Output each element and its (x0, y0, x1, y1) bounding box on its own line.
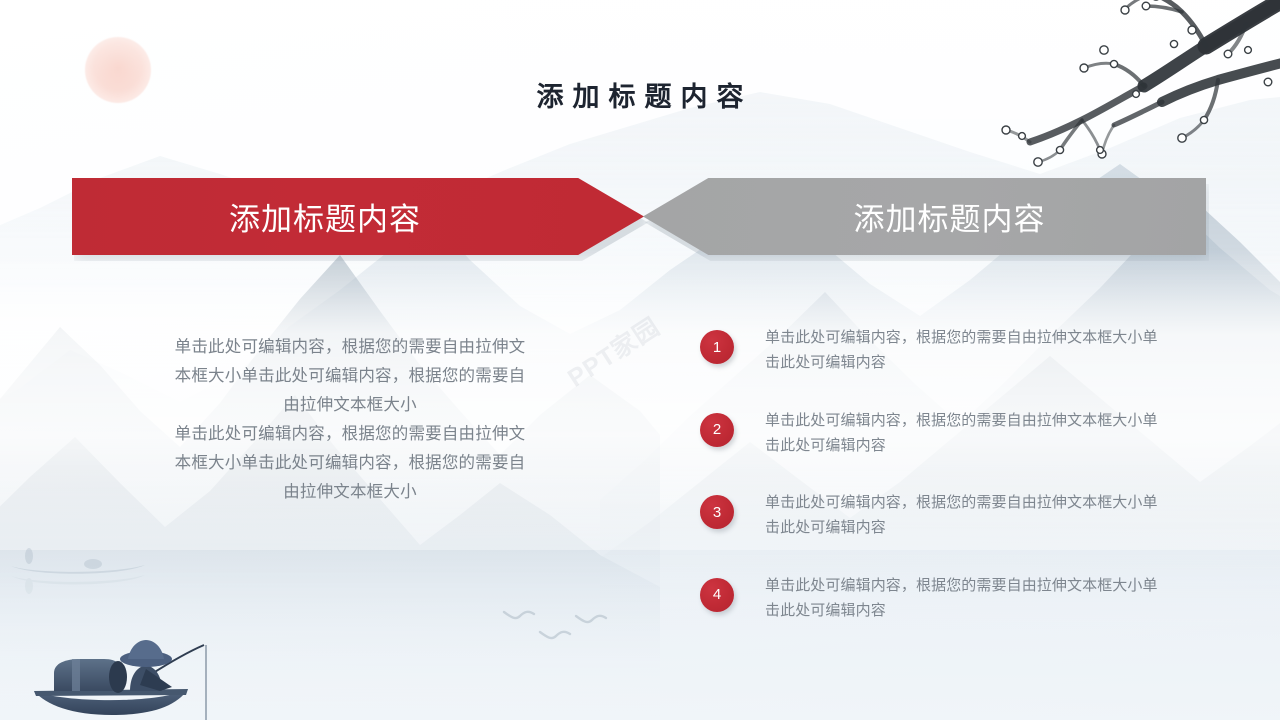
list-item-text: 单击此处可编辑内容，根据您的需要自由拉伸文本框大小单击此处可编辑内容 (765, 490, 1165, 540)
left-paragraph-1: 单击此处可编辑内容，根据您的需要自由拉伸文本框大小单击此处可编辑内容，根据您的需… (170, 333, 530, 420)
number-badge: 4 (700, 578, 734, 612)
slide-canvas: PPT家园 添加标题内容 添加标题内容 添加标题内容 单击此处可编辑内容，根据您… (0, 0, 1280, 720)
list-item[interactable]: 2 单击此处可编辑内容，根据您的需要自由拉伸文本框大小单击此处可编辑内容 (695, 408, 1215, 491)
banner-row: 添加标题内容 添加标题内容 (0, 178, 1280, 268)
watermark: PPT家园 (563, 304, 707, 436)
numbered-list: 1 单击此处可编辑内容，根据您的需要自由拉伸文本框大小单击此处可编辑内容 2 单… (695, 325, 1215, 655)
right-banner-label: 添加标题内容 (854, 194, 1046, 239)
list-item[interactable]: 3 单击此处可编辑内容，根据您的需要自由拉伸文本框大小单击此处可编辑内容 (695, 490, 1215, 573)
left-banner[interactable]: 添加标题内容 (72, 178, 644, 255)
left-paragraph-2: 单击此处可编辑内容，根据您的需要自由拉伸文本框大小单击此处可编辑内容，根据您的需… (170, 420, 530, 507)
page-title: 添加标题内容 (0, 75, 1280, 114)
list-item[interactable]: 4 单击此处可编辑内容，根据您的需要自由拉伸文本框大小单击此处可编辑内容 (695, 573, 1215, 656)
left-body-text: 单击此处可编辑内容，根据您的需要自由拉伸文本框大小单击此处可编辑内容，根据您的需… (170, 333, 530, 507)
list-item[interactable]: 1 单击此处可编辑内容，根据您的需要自由拉伸文本框大小单击此处可编辑内容 (695, 325, 1215, 408)
fishing-boat-icon (0, 625, 252, 720)
list-item-text: 单击此处可编辑内容，根据您的需要自由拉伸文本框大小单击此处可编辑内容 (765, 573, 1165, 623)
flying-birds-icon (500, 600, 620, 645)
number-badge: 2 (700, 413, 734, 447)
list-item-text: 单击此处可编辑内容，根据您的需要自由拉伸文本框大小单击此处可编辑内容 (765, 408, 1165, 458)
list-item-text: 单击此处可编辑内容，根据您的需要自由拉伸文本框大小单击此处可编辑内容 (765, 325, 1165, 375)
number-badge: 1 (700, 330, 734, 364)
number-badge: 3 (700, 495, 734, 529)
left-banner-label: 添加标题内容 (229, 194, 421, 239)
right-banner[interactable]: 添加标题内容 (643, 178, 1206, 255)
distant-boat-icon (5, 540, 155, 600)
